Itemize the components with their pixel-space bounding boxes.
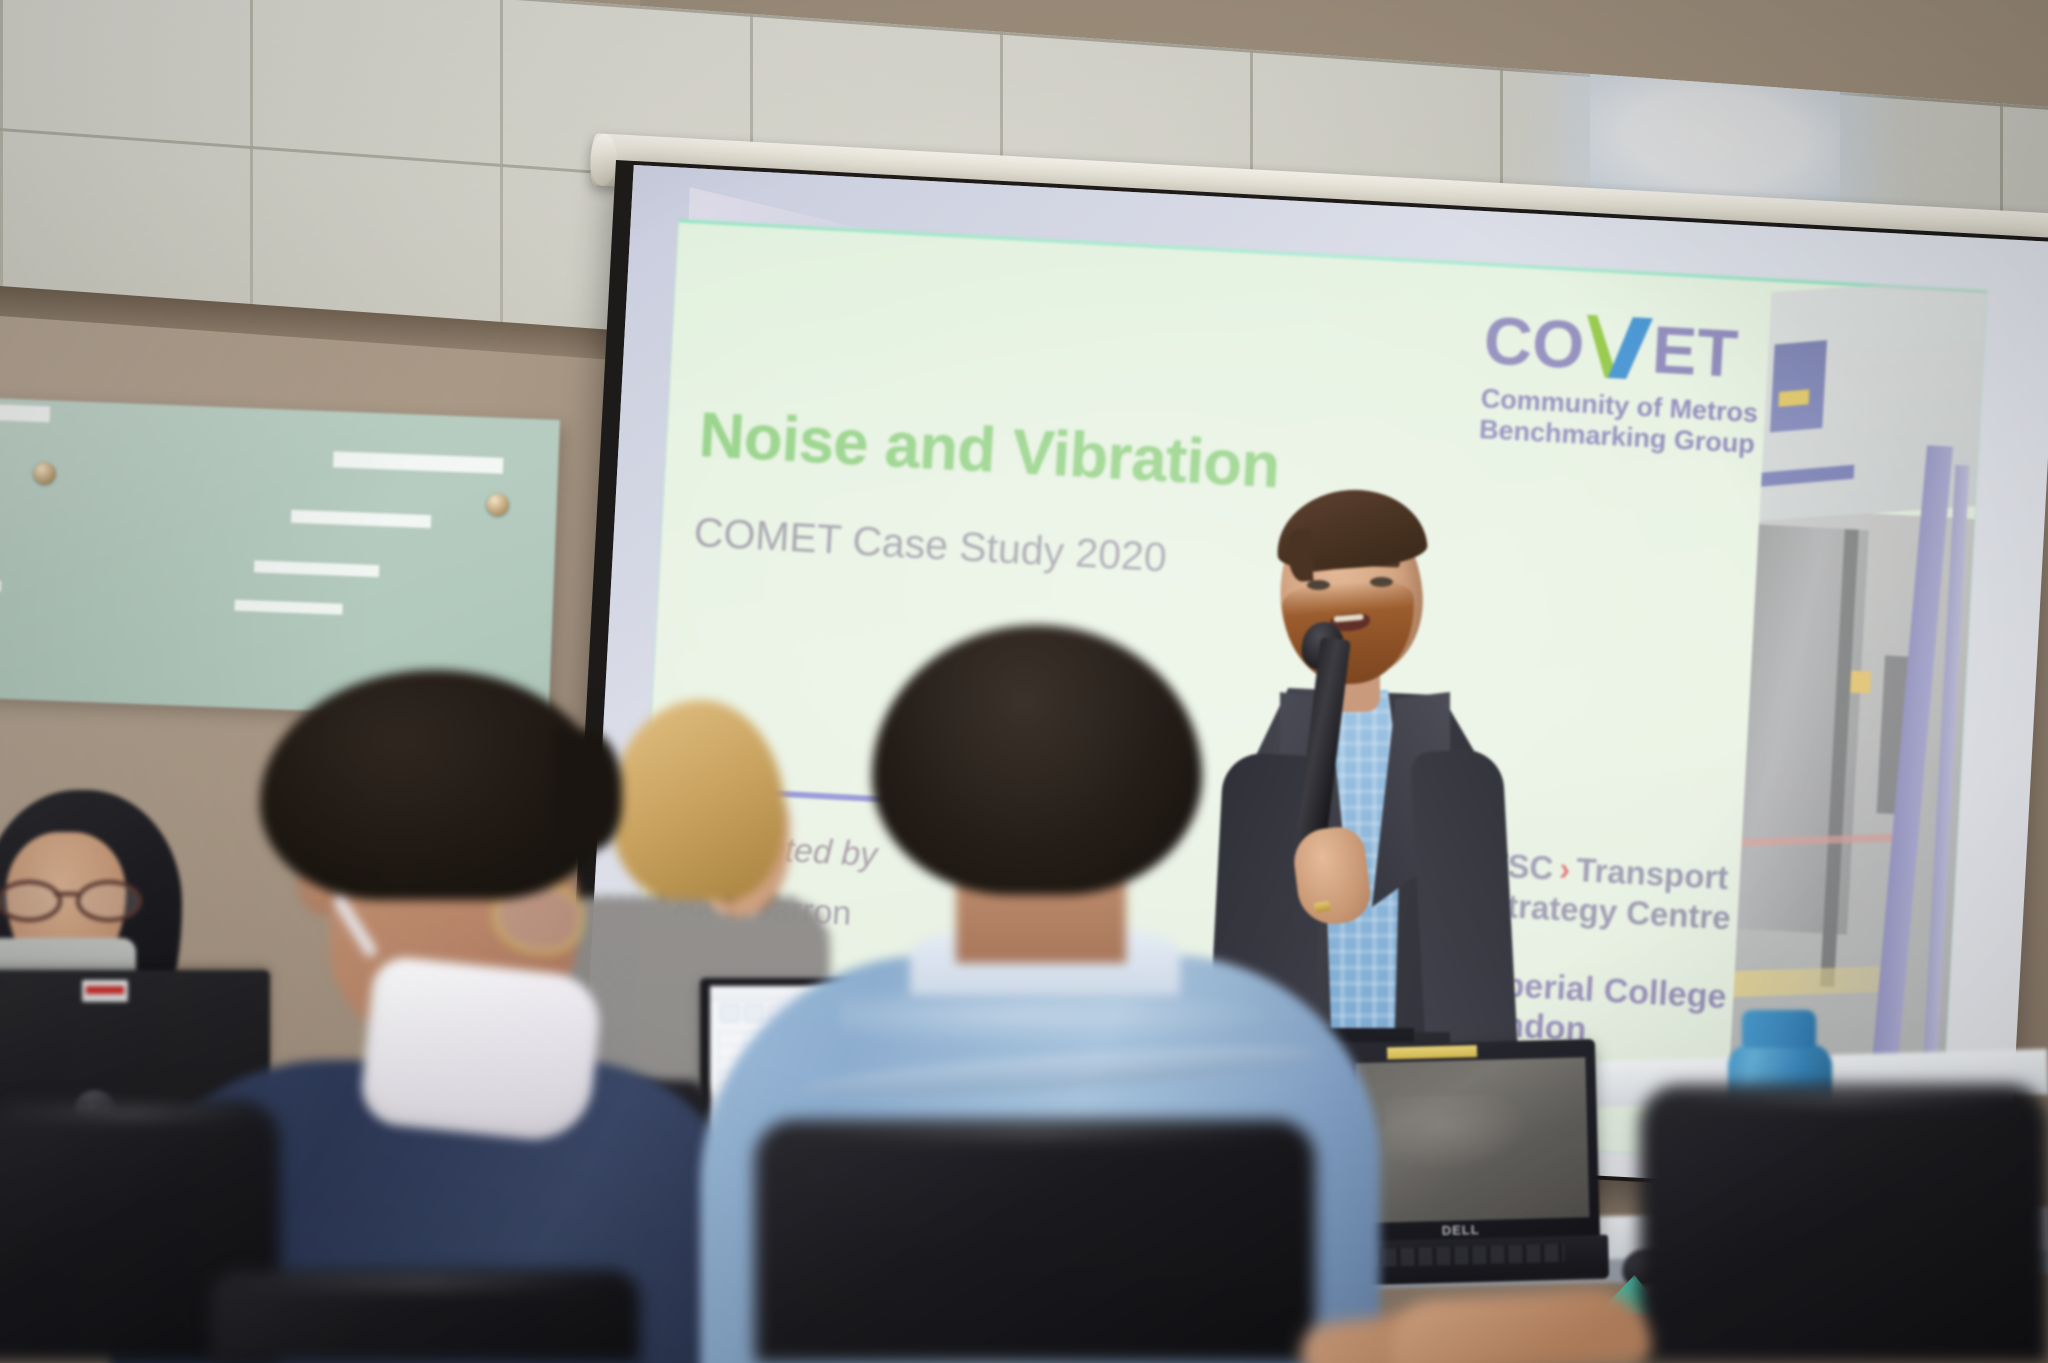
comet-word-part1: CO — [1482, 309, 1586, 378]
laptop-screen — [1355, 1057, 1589, 1223]
whiteboard-highlight — [333, 451, 503, 474]
whiteboard-highlight — [254, 560, 379, 577]
chair-edge-highlight — [0, 1108, 262, 1118]
slide-title: Noise and Vibration — [697, 399, 1281, 502]
comet-word-part2: ET — [1650, 318, 1739, 386]
whiteboard-highlight — [234, 600, 342, 615]
laptop-yellow-sticker — [1387, 1045, 1477, 1059]
presentation-photo-scene: CO ET Community of Metros Benchmarking G… — [0, 0, 2048, 1363]
chair-edge-highlight — [789, 1128, 1282, 1138]
station-ceiling-lamp — [1844, 384, 1879, 400]
presenter-hair — [1273, 485, 1428, 573]
tsc-word-transport: Transport — [1575, 851, 1729, 897]
roller-end-cap — [589, 133, 618, 186]
comet-logo: CO ET Community of Metros Benchmarking G… — [1478, 309, 1762, 460]
eyeglass-lens-right — [76, 880, 142, 922]
whiteboard-mount-screw — [486, 493, 509, 516]
chevron-right-icon: › — [1558, 850, 1571, 889]
presenter-arm-right — [1410, 748, 1518, 1057]
white-face-mask — [358, 954, 604, 1145]
comet-m-glyph — [1584, 315, 1653, 380]
whiteboard-mount-screw — [33, 462, 56, 485]
office-chair-center[interactable] — [755, 1120, 1315, 1363]
masked-person-hair — [260, 670, 610, 900]
blue-shirt-person-hair — [872, 625, 1202, 895]
station-direction-sign — [1770, 340, 1827, 432]
whiteboard-highlight — [291, 510, 431, 528]
whiteboard-highlight — [0, 402, 50, 423]
tsc-logo: TSC › Transport Strategy Centre — [1484, 846, 1734, 937]
comet-wordmark: CO ET — [1482, 309, 1763, 388]
bottle-cap — [1742, 1010, 1816, 1048]
slide-subtitle: COMET Case Study 2020 — [693, 509, 1168, 582]
station-yellow-marker — [1850, 671, 1871, 694]
whiteboard-highlight — [0, 579, 1, 592]
ribbon-button — [720, 1004, 740, 1022]
comet-m-right-stroke — [1608, 316, 1653, 380]
dell-laptop-right[interactable]: DELL — [1345, 1039, 1617, 1286]
eyeglass-bridge — [54, 892, 78, 896]
laptop-lid: DELL — [1345, 1039, 1600, 1245]
dell-logo: DELL — [1442, 1222, 1480, 1238]
office-chair-right[interactable] — [1640, 1085, 2048, 1363]
eyeglasses — [0, 880, 138, 914]
laptop-asset-sticker — [82, 980, 128, 1002]
chair-edge-highlight — [236, 1278, 614, 1288]
office-chair-mid[interactable] — [210, 1270, 640, 1363]
chair-edge-highlight — [1664, 1093, 2023, 1103]
